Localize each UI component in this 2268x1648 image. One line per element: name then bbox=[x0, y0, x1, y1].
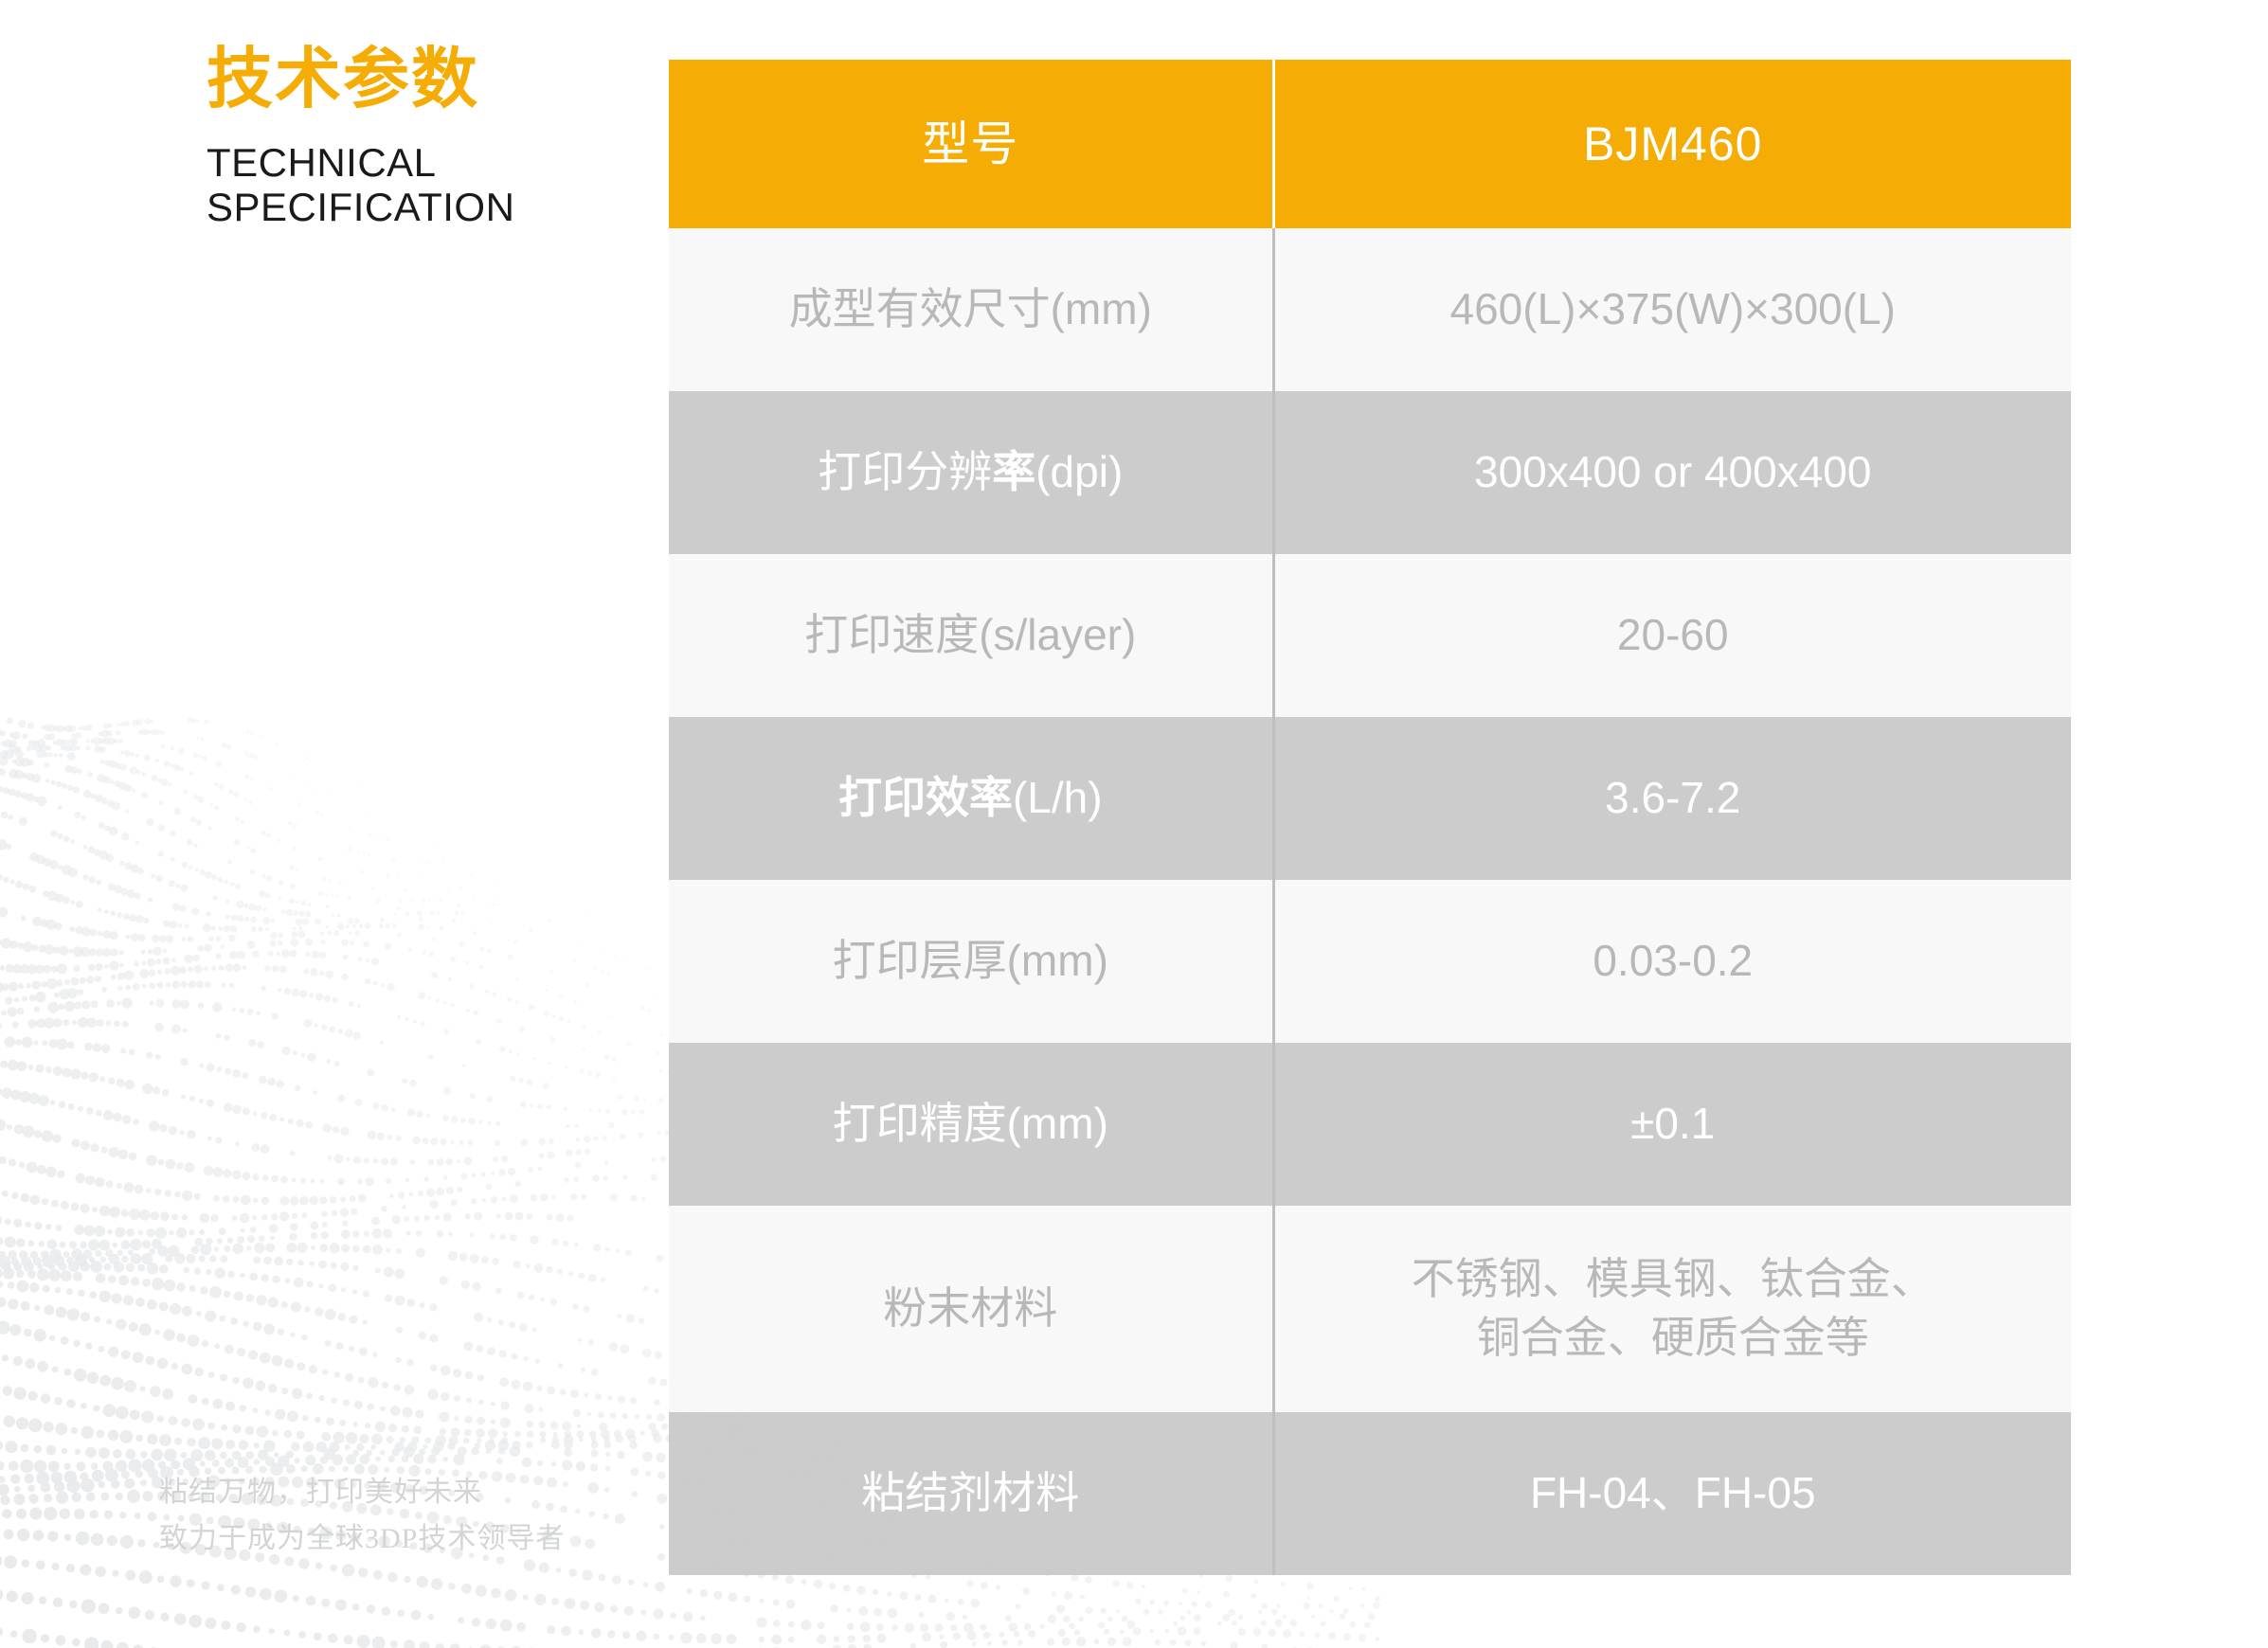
spec-label-print-efficiency-part-a: 打印效率 bbox=[838, 773, 1013, 822]
page-heading: 技术参数 TECHNICAL SPECIFICATION bbox=[207, 44, 614, 230]
table-row: 打印速度(s/layer) 20-60 bbox=[669, 554, 2071, 717]
spec-value-layer-thickness: 0.03-0.2 bbox=[1273, 880, 2071, 1043]
watermark-slogan-line1: 粘结万物，打印美好未来 bbox=[159, 1470, 565, 1516]
spec-label-print-speed: 打印速度(s/layer) bbox=[669, 554, 1273, 717]
spec-label-accuracy: 打印精度(mm) bbox=[669, 1043, 1273, 1206]
spec-label-print-efficiency: 打印效率(L/h) bbox=[669, 717, 1273, 880]
page-title-en-line1: TECHNICAL bbox=[207, 140, 614, 186]
table-row: 成型有效尺寸(mm) 460(L)×375(W)×300(L) bbox=[669, 228, 2071, 391]
spec-value-powder-material: 不锈钢、模具钢、钛合金、 铜合金、硬质合金等 bbox=[1273, 1206, 2071, 1412]
slide-canvas: 技术参数 TECHNICAL SPECIFICATION 型号 BJM460 成… bbox=[0, 0, 2268, 1648]
table-header-model-label: 型号 bbox=[669, 60, 1273, 228]
table-row: 打印效率(L/h) 3.6-7.2 bbox=[669, 717, 2071, 880]
table-row: 粉末材料 不锈钢、模具钢、钛合金、 铜合金、硬质合金等 bbox=[669, 1206, 2071, 1412]
page-title-cn: 技术参数 bbox=[207, 44, 614, 116]
spec-value-accuracy: ±0.1 bbox=[1273, 1043, 2071, 1206]
spec-label-print-efficiency-part-c: (L/h) bbox=[1013, 773, 1103, 822]
table-row: 打印层厚(mm) 0.03-0.2 bbox=[669, 880, 2071, 1043]
spec-value-powder-material-line2: 铜合金、硬质合金等 bbox=[1288, 1309, 2059, 1368]
table-row: 打印精度(mm) ±0.1 bbox=[669, 1043, 2071, 1206]
spec-value-build-size: 460(L)×375(W)×300(L) bbox=[1273, 228, 2071, 391]
page-title-en-line2: SPECIFICATION bbox=[207, 185, 614, 230]
spec-label-build-size: 成型有效尺寸(mm) bbox=[669, 228, 1273, 391]
spec-value-resolution: 300x400 or 400x400 bbox=[1273, 391, 2071, 554]
spec-label-resolution-part-c: (dpi) bbox=[1035, 447, 1123, 496]
spec-value-binder-material: FH-04、FH-05 bbox=[1273, 1412, 2071, 1575]
spec-label-layer-thickness: 打印层厚(mm) bbox=[669, 880, 1273, 1043]
spec-value-powder-material-line1: 不锈钢、模具钢、钛合金、 bbox=[1288, 1250, 2059, 1309]
spec-value-print-speed: 20-60 bbox=[1273, 554, 2071, 717]
spec-label-binder-material: 粘结剂材料 bbox=[669, 1412, 1273, 1575]
spec-label-resolution: 打印分辨率(dpi) bbox=[669, 391, 1273, 554]
table-header-model-value: BJM460 bbox=[1273, 60, 2071, 228]
spec-label-powder-material: 粉末材料 bbox=[669, 1206, 1273, 1412]
watermark-slogan-line2: 致力于成为全球3DP技术领导者 bbox=[159, 1516, 565, 1563]
spec-value-print-efficiency: 3.6-7.2 bbox=[1273, 717, 2071, 880]
watermark-slogan: 粘结万物，打印美好未来 致力于成为全球3DP技术领导者 bbox=[159, 1470, 565, 1562]
spec-label-resolution-part-a: 打印分辨 bbox=[818, 447, 992, 496]
spec-label-resolution-part-b: 率 bbox=[992, 447, 1035, 496]
technical-specification-table: 型号 BJM460 成型有效尺寸(mm) 460(L)×375(W)×300(L… bbox=[669, 60, 2071, 1575]
page-title-en: TECHNICAL SPECIFICATION bbox=[207, 140, 614, 231]
table-row: 打印分辨率(dpi) 300x400 or 400x400 bbox=[669, 391, 2071, 554]
table-row: 粘结剂材料 FH-04、FH-05 bbox=[669, 1412, 2071, 1575]
table-header-row: 型号 BJM460 bbox=[669, 60, 2071, 228]
